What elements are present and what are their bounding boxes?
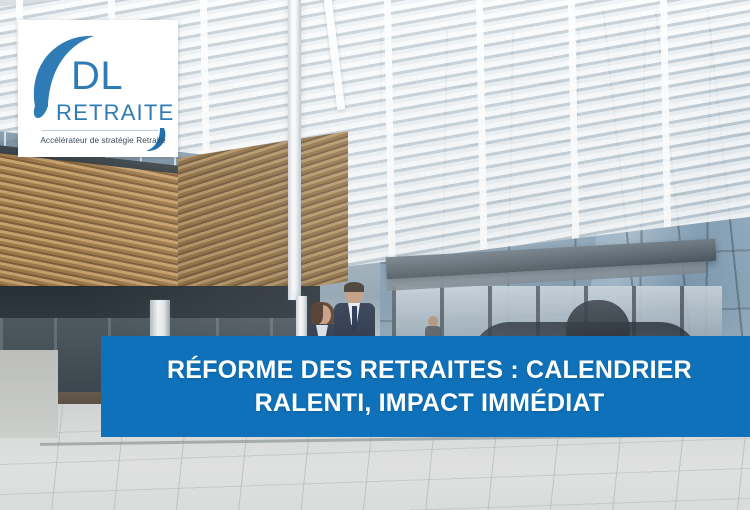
title-banner: RÉFORME DES RETRAITES : CALENDRIER RALEN… [101,336,750,437]
page-title-line-2: RALENTI, IMPACT IMMÉDIAT [255,389,605,417]
brand-tagline: Accélérateur de stratégie Retraite [37,136,169,145]
plaza-side-wall [0,350,58,438]
page-title: RÉFORME DES RETRAITES : CALENDRIER RALEN… [145,354,706,420]
logo-divider [42,130,158,131]
atrium-column-tall [288,0,301,300]
wood-slat-facade-side [178,131,348,308]
brand-word: RETRAITE [56,102,174,124]
page-title-line-1: RÉFORME DES RETRAITES : CALENDRIER [167,356,692,384]
brand-initials: DL [71,56,123,96]
brand-logo-card[interactable]: DL RETRAITE Accélérateur de stratégie Re… [18,20,178,157]
hero-banner-image: DL RETRAITE Accélérateur de stratégie Re… [0,0,750,510]
